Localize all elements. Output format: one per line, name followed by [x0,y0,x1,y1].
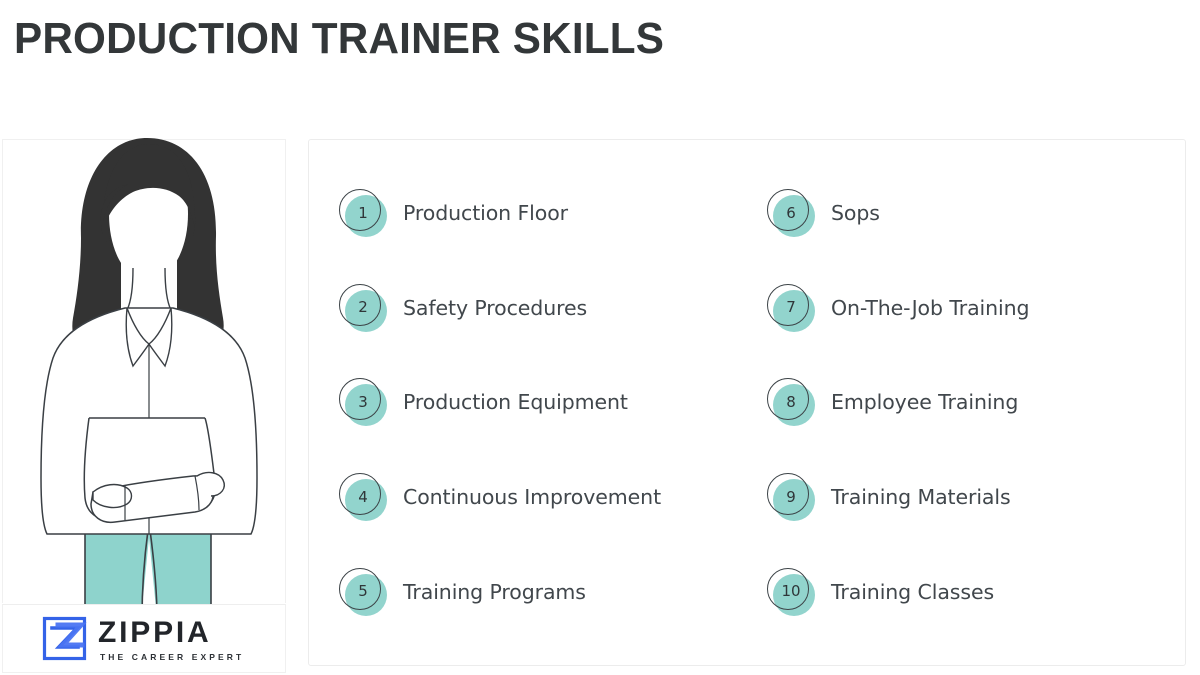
skill-number: 5 [358,584,368,599]
skill-number-badge: 2 [339,284,387,332]
skill-item-5: 5 Training Programs [309,544,747,639]
badge-ring: 2 [339,284,381,326]
skill-number-badge: 6 [767,189,815,237]
skill-item-4: 4 Continuous Improvement [309,450,747,545]
zippia-tagline: THE CAREER EXPERT [100,653,244,662]
skill-label: Training Programs [403,580,586,604]
skill-number: 6 [786,206,796,221]
skill-item-1: 1 Production Floor [309,166,747,261]
skill-label: Sops [831,201,880,225]
skill-label: Training Classes [831,580,994,604]
zippia-footer: ZIPPIA THE CAREER EXPERT [2,604,286,673]
badge-ring: 4 [339,473,381,515]
skill-number: 10 [781,584,800,599]
skill-number-badge: 3 [339,378,387,426]
skill-number-badge: 8 [767,378,815,426]
skill-label: Employee Training [831,390,1018,414]
skill-label: Safety Procedures [403,296,587,320]
skill-number: 3 [358,395,368,410]
skill-number-badge: 7 [767,284,815,332]
skills-list: 1 Production Floor 6 Sops 2 Safety Proce… [309,140,1185,665]
skill-item-2: 2 Safety Procedures [309,261,747,356]
illustration-card [2,139,286,603]
skill-item-8: 8 Employee Training [747,355,1185,450]
skill-number-badge: 10 [767,568,815,616]
skill-number: 4 [358,490,368,505]
skill-item-7: 7 On-The-Job Training [747,261,1185,356]
skill-number-badge: 9 [767,473,815,521]
zippia-wordmark: ZIPPIA THE CAREER EXPERT [98,616,244,662]
skill-label: Production Floor [403,201,568,225]
page-title: PRODUCTION TRAINER SKILLS [14,14,664,63]
skill-number-badge: 4 [339,473,387,521]
skill-item-6: 6 Sops [747,166,1185,261]
skill-number: 8 [786,395,796,410]
zippia-wordmark-text: ZIPPIA [98,618,244,648]
skill-number-badge: 1 [339,189,387,237]
woman-arms-crossed-illustration [3,140,287,605]
skill-label: On-The-Job Training [831,296,1029,320]
skill-number: 1 [358,206,368,221]
badge-ring: 9 [767,473,809,515]
skill-number: 2 [358,300,368,315]
skill-number-badge: 5 [339,568,387,616]
badge-ring: 1 [339,189,381,231]
badge-ring: 5 [339,568,381,610]
skills-card: 1 Production Floor 6 Sops 2 Safety Proce… [308,139,1186,666]
skill-item-9: 9 Training Materials [747,450,1185,545]
zippia-z-mark-icon [41,615,88,662]
badge-ring: 7 [767,284,809,326]
skill-label: Continuous Improvement [403,485,661,509]
skill-label: Production Equipment [403,390,628,414]
badge-ring: 10 [767,568,809,610]
badge-ring: 6 [767,189,809,231]
skill-number: 7 [786,300,796,315]
skill-number: 9 [786,490,796,505]
skill-label: Training Materials [831,485,1011,509]
skill-item-10: 10 Training Classes [747,544,1185,639]
skill-item-3: 3 Production Equipment [309,355,747,450]
